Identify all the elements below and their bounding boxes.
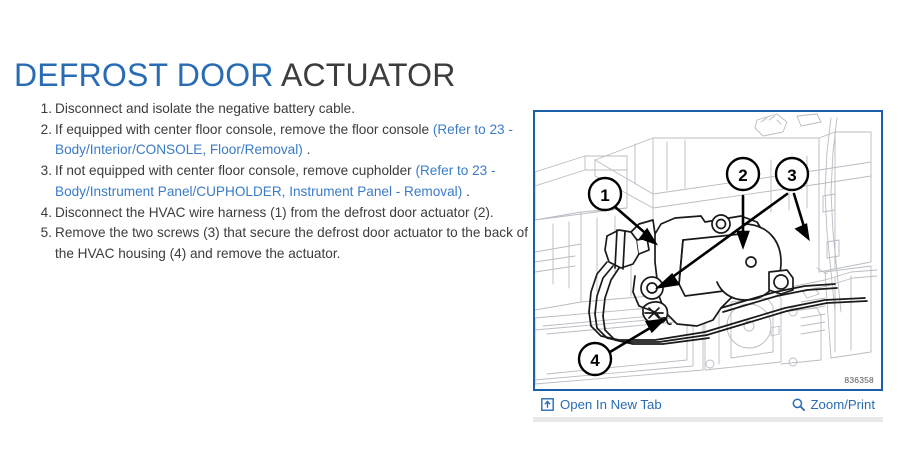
callout-2: 2	[727, 158, 759, 190]
callout-3: 3	[776, 158, 808, 190]
procedure-step: 4.Disconnect the HVAC wire harness (1) f…	[36, 203, 528, 223]
svg-text:3: 3	[787, 166, 796, 185]
procedure-step: 3.If not equipped with center floor cons…	[36, 161, 528, 202]
callout-1: 1	[589, 178, 621, 210]
procedure-step-text: Disconnect and isolate the negative batt…	[55, 101, 355, 116]
procedure-step-text: If not equipped with center floor consol…	[55, 163, 415, 178]
zoom-print-button[interactable]: Zoom/Print	[792, 397, 876, 412]
magnifier-icon	[792, 398, 805, 411]
zoom-print-label: Zoom/Print	[811, 397, 876, 412]
procedure-step-text: .	[462, 184, 470, 199]
procedure-step-text: .	[303, 142, 311, 157]
procedure-step-text: If equipped with center floor console, r…	[55, 122, 433, 137]
procedure-step: 1.Disconnect and isolate the negative ba…	[36, 99, 528, 119]
procedure-step-number: 4.	[36, 203, 52, 223]
svg-text:1: 1	[600, 186, 609, 205]
procedure-step-number: 5.	[36, 223, 52, 243]
procedure-step-number: 3.	[36, 161, 52, 181]
procedure-step: 5.Remove the two screws (3) that secure …	[36, 223, 528, 264]
procedure-step-text: Disconnect the HVAC wire harness (1) fro…	[55, 205, 494, 220]
figure-image-id: 836358	[843, 375, 875, 385]
procedure-step-number: 2.	[36, 120, 52, 140]
open-in-new-tab-icon	[541, 398, 554, 411]
open-in-new-tab-button[interactable]: Open In New Tab	[541, 397, 662, 412]
svg-text:4: 4	[590, 351, 600, 370]
figure-image-frame[interactable]: 1 2 3 4 836358	[533, 110, 883, 391]
callout-4: 4	[579, 343, 611, 375]
figure-footer-divider	[533, 417, 883, 422]
procedure-step-text: Remove the two screws (3) that secure th…	[55, 225, 528, 260]
page-title-secondary: ACTUATOR	[281, 57, 456, 93]
figure-toolbar: Open In New Tab Zoom/Print	[533, 391, 883, 417]
page-title-primary: DEFROST DOOR	[14, 57, 274, 93]
hvac-actuator-diagram: 1 2 3 4	[535, 112, 877, 385]
page-title: DEFROST DOOR ACTUATOR	[14, 57, 456, 94]
procedure-step: 2.If equipped with center floor console,…	[36, 120, 528, 161]
procedure-step-number: 1.	[36, 99, 52, 119]
svg-text:2: 2	[738, 166, 747, 185]
open-in-new-tab-label: Open In New Tab	[560, 397, 662, 412]
procedure-list: 1.Disconnect and isolate the negative ba…	[36, 99, 528, 265]
figure-panel: 1 2 3 4 836358	[533, 110, 883, 422]
